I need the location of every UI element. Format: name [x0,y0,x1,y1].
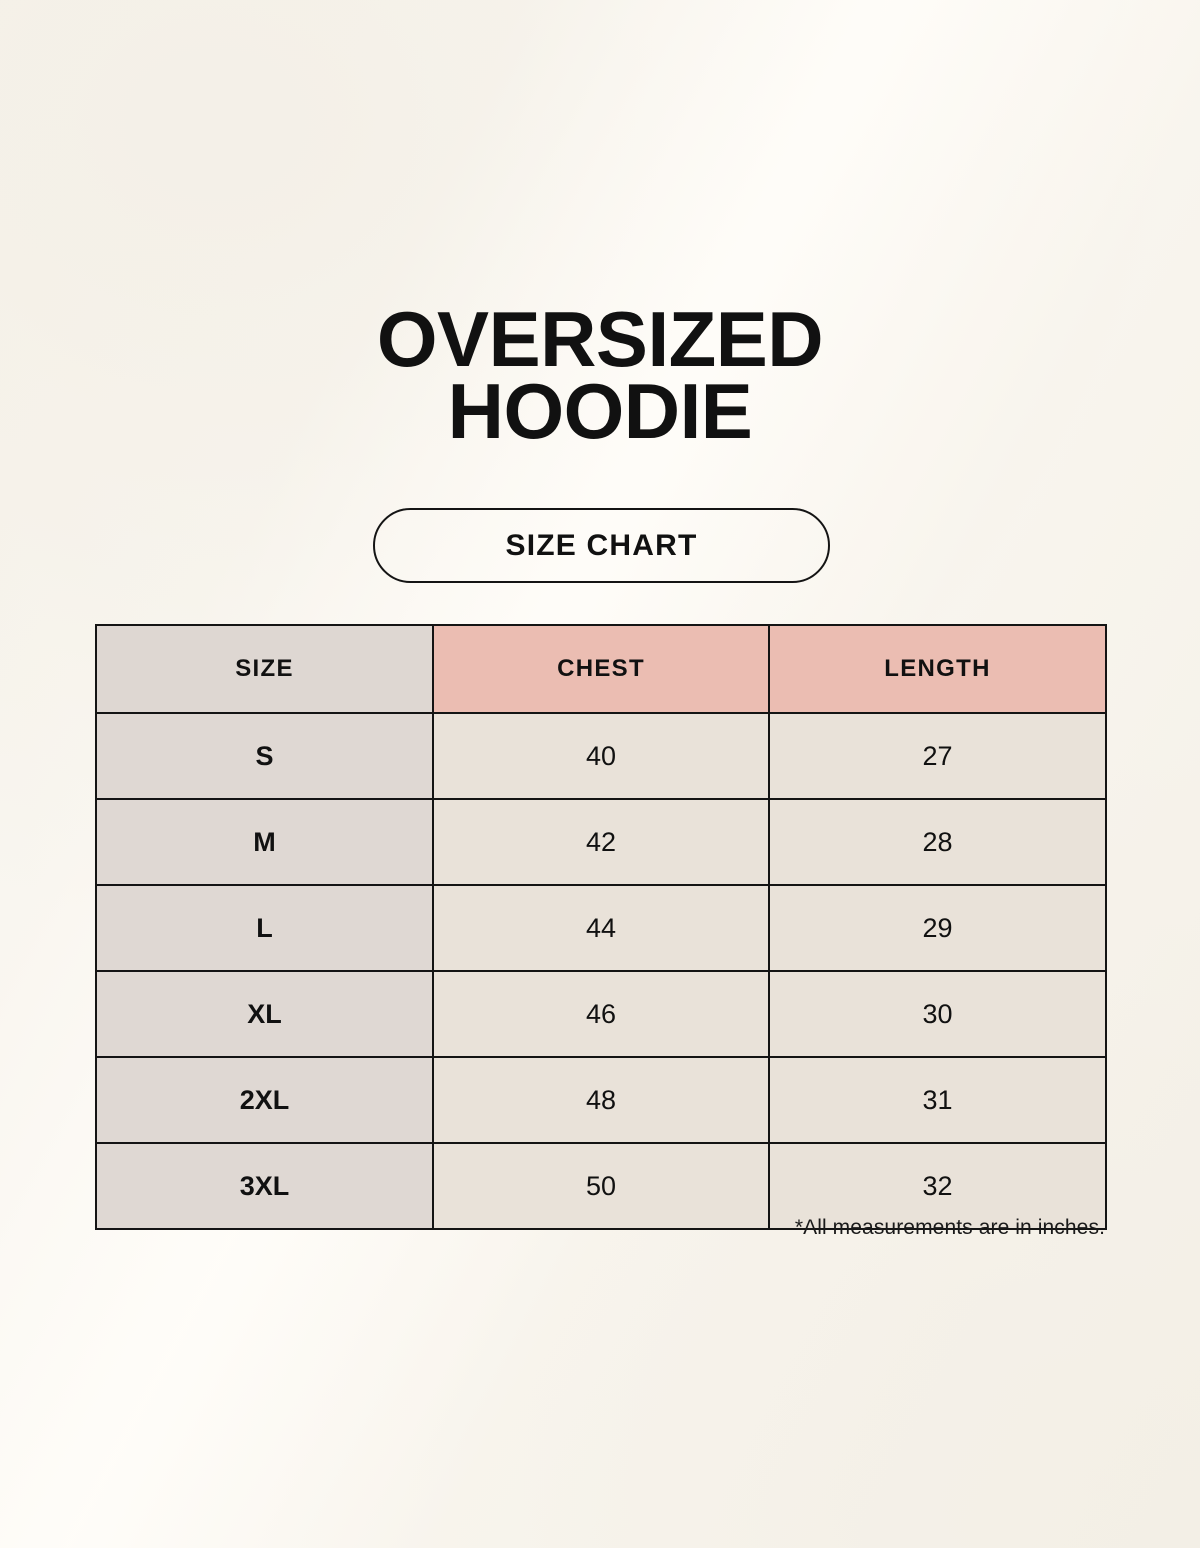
cell-length: 27 [769,713,1106,799]
cell-length: 31 [769,1057,1106,1143]
measurement-units-note: *All measurements are in inches. [95,1216,1105,1240]
table-row: S 40 27 [96,713,1106,799]
size-chart-table: SIZE CHEST LENGTH S 40 27 M 42 28 L 44 2… [95,624,1107,1230]
title-line-product-name: HOODIE [0,375,1200,447]
cell-chest: 48 [433,1057,769,1143]
table-header-row: SIZE CHEST LENGTH [96,625,1106,713]
column-header-chest: CHEST [433,625,769,713]
cell-size: XL [96,971,433,1057]
cell-length: 28 [769,799,1106,885]
cell-chest: 42 [433,799,769,885]
size-chart-poster: OVERSIZED HOODIE SIZE CHART SIZE CHEST L… [0,0,1200,1548]
size-chart-badge-label: SIZE CHART [506,529,698,563]
cell-chest: 40 [433,713,769,799]
page-title: OVERSIZED HOODIE [0,303,1200,447]
column-header-size: SIZE [96,625,433,713]
cell-size: 2XL [96,1057,433,1143]
table-row: XL 46 30 [96,971,1106,1057]
table-header: SIZE CHEST LENGTH [96,625,1106,713]
cell-length: 30 [769,971,1106,1057]
table-row: M 42 28 [96,799,1106,885]
table-row: L 44 29 [96,885,1106,971]
cell-chest: 46 [433,971,769,1057]
table-body: S 40 27 M 42 28 L 44 29 XL 46 30 2XL 48 [96,713,1106,1229]
cell-size: L [96,885,433,971]
table-row: 2XL 48 31 [96,1057,1106,1143]
cell-chest: 44 [433,885,769,971]
cell-size: M [96,799,433,885]
column-header-length: LENGTH [769,625,1106,713]
title-line-product-type: OVERSIZED [0,303,1200,375]
cell-size: S [96,713,433,799]
cell-length: 29 [769,885,1106,971]
size-chart-badge: SIZE CHART [373,508,830,583]
